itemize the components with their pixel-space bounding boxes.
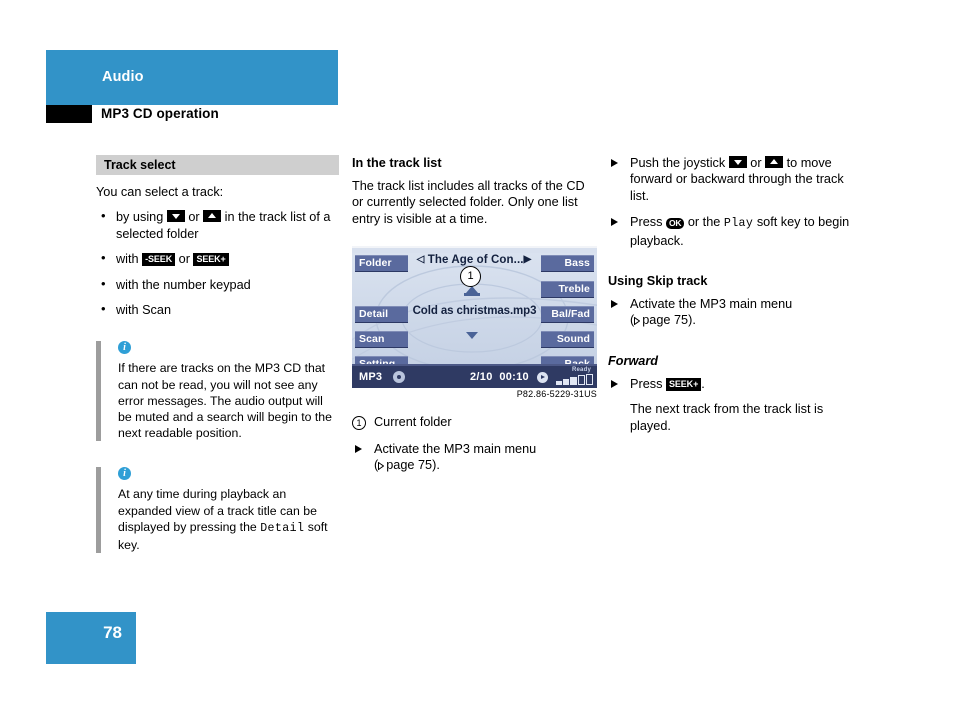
page-reference-text: page 75).	[642, 313, 696, 327]
info-icon: i	[118, 341, 131, 354]
action-text: Activate the MP3 main menu	[374, 442, 536, 456]
callout-marker-1: 1	[460, 266, 480, 287]
list-item: with the number keypad	[96, 277, 339, 293]
callout-number: 1	[460, 266, 481, 287]
status-elapsed-time: 00:10	[499, 371, 529, 383]
action-bullet-icon	[611, 159, 618, 167]
page-reference-text: page 75).	[386, 458, 440, 472]
detail-softkey-name: Detail	[260, 522, 304, 535]
action-activate-mp3-menu-right: Activate the MP3 main menu (page 75).	[608, 296, 856, 329]
softkey-sound[interactable]: Sound	[541, 331, 594, 348]
action-text-mid: or the	[688, 215, 720, 229]
seek-back-key-icon: -SEEK	[142, 253, 175, 266]
list-item: with -SEEK or SEEK+	[96, 251, 339, 267]
info-note-detail-softkey: i At any time during playback an expande…	[96, 467, 339, 553]
disc-icon	[393, 371, 405, 383]
legend-text: Current folder	[374, 415, 452, 429]
right-column: Push the joystick or to move forward or …	[608, 155, 856, 444]
seek-forward-key-icon: SEEK+	[193, 253, 228, 266]
seek-forward-key-icon: SEEK+	[666, 378, 701, 391]
action-text: Activate the MP3 main menu	[630, 297, 792, 311]
softkey-scan[interactable]: Scan	[355, 331, 408, 348]
page-reference[interactable]: (page 75).	[374, 458, 440, 472]
action-bullet-icon	[355, 445, 362, 453]
up-arrow-key-icon	[203, 210, 221, 222]
header-chapter-bar: Audio	[46, 50, 338, 105]
bullet-text-mid: or	[188, 210, 199, 224]
softkey-balfad[interactable]: Bal/Fad	[541, 306, 594, 323]
track-select-bullet-list: by using or in the track list of a selec…	[96, 209, 339, 318]
reception-status-label: Ready	[572, 367, 591, 373]
scroll-up-caret-base	[464, 293, 480, 296]
play-softkey-name: Play	[724, 217, 753, 230]
page-reference-icon	[634, 317, 640, 325]
forward-subheading: Forward	[608, 353, 856, 369]
scroll-up-caret-icon[interactable]	[466, 286, 478, 293]
section-title: MP3 CD operation	[101, 106, 219, 121]
note-text: At any time during playback an expanded …	[118, 486, 339, 553]
status-track-counter: 2/10	[470, 371, 493, 383]
action-text-after: .	[701, 377, 705, 391]
next-folder-caret-icon[interactable]: ▶	[524, 254, 532, 265]
using-skip-track-heading: Using Skip track	[608, 273, 856, 289]
signal-strength-icon	[556, 375, 592, 385]
display-status-bar: MP3 2/10 00:10 Ready	[352, 364, 597, 388]
status-track-and-time: 2/10 00:10	[470, 371, 529, 383]
page-reference-icon	[378, 462, 384, 470]
play-icon	[537, 372, 548, 383]
info-icon: i	[118, 467, 131, 480]
list-item: by using or in the track list of a selec…	[96, 209, 339, 242]
folder-name-text: The Age of Con...	[428, 254, 524, 266]
track-list-paragraph: The track list includes all tracks of th…	[352, 178, 597, 227]
softkey-bass[interactable]: Bass	[541, 255, 594, 272]
action-text-mid: or	[750, 156, 761, 170]
bullet-text-mid: or	[179, 252, 190, 266]
note-text: If there are tracks on the MP3 CD that c…	[118, 360, 339, 441]
chapter-title: Audio	[102, 69, 144, 85]
mp3-display-screen: Folder Detail Scan Setting Bass Treble B…	[352, 246, 597, 388]
ok-button-icon: OK	[666, 218, 684, 229]
track-select-intro: You can select a track:	[96, 184, 339, 200]
up-arrow-key-icon	[765, 156, 783, 168]
action-push-joystick: Push the joystick or to move forward or …	[608, 155, 856, 204]
softkey-detail[interactable]: Detail	[355, 306, 408, 323]
action-bullet-icon	[611, 218, 618, 226]
in-the-track-list-heading: In the track list	[352, 155, 597, 171]
display-top-edge	[352, 248, 597, 253]
section-marker-block	[46, 105, 92, 123]
action-press-ok-play: Press OK or the Play soft key to begin p…	[608, 214, 856, 249]
mp3-display-figure: Folder Detail Scan Setting Bass Treble B…	[352, 246, 597, 388]
action-text-before: Press	[630, 215, 662, 229]
prev-folder-caret-icon[interactable]: ◁	[417, 254, 425, 265]
scroll-down-caret-icon[interactable]	[466, 332, 478, 339]
action-press-seek-forward: Press SEEK+. The next track from the tra…	[608, 376, 856, 434]
page-reference[interactable]: (page 75).	[630, 313, 696, 327]
action-bullet-icon	[611, 380, 618, 388]
middle-column: In the track list The track list include…	[352, 155, 597, 483]
legend-marker: 1	[352, 416, 366, 430]
list-item: with Scan	[96, 302, 339, 318]
softkey-folder[interactable]: Folder	[355, 255, 408, 272]
page-number: 78	[46, 623, 122, 643]
action-text-before: Press	[630, 377, 662, 391]
status-mode-label: MP3	[359, 371, 382, 383]
legend-current-folder: 1 Current folder	[352, 414, 597, 430]
action-text-before: Push the joystick	[630, 156, 725, 170]
down-arrow-key-icon	[729, 156, 747, 168]
softkey-treble[interactable]: Treble	[541, 281, 594, 298]
action-result-text: The next track from the track list is pl…	[630, 401, 856, 434]
bullet-text-before: by using	[116, 210, 163, 224]
down-arrow-key-icon	[167, 210, 185, 222]
current-folder-title: ◁ The Age of Con...▶	[414, 254, 534, 266]
track-select-heading: Track select	[96, 155, 339, 175]
left-column: Track select You can select a track: by …	[96, 155, 339, 559]
bullet-text-before: with	[116, 252, 139, 266]
action-bullet-icon	[611, 300, 618, 308]
figure-caption: P82.86-5229-31US	[517, 389, 597, 399]
action-activate-mp3-menu: Activate the MP3 main menu (page 75).	[352, 441, 597, 474]
info-note-unreadable-tracks: i If there are tracks on the MP3 CD that…	[96, 341, 339, 441]
selected-track-name: Cold as christmas.mp3	[407, 305, 542, 317]
